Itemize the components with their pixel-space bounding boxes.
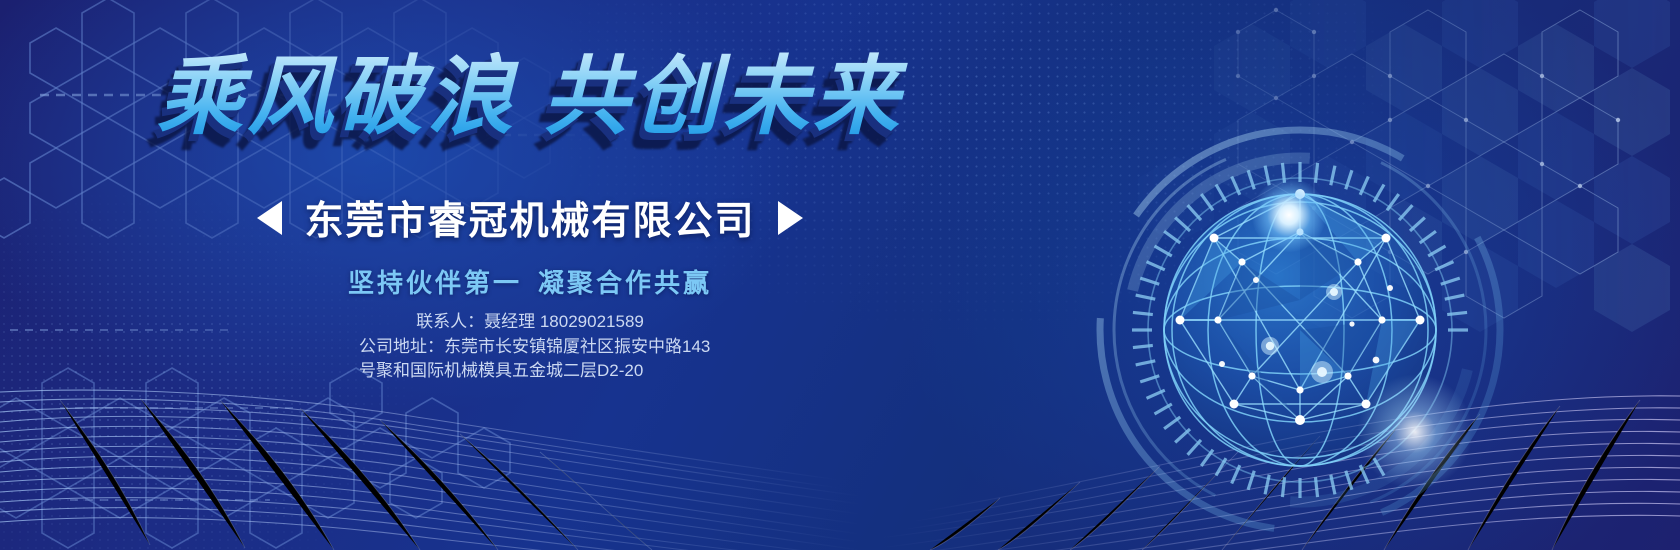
headline-part-2: 共创未来 bbox=[543, 49, 903, 145]
banner-headline: 乘风破浪共创未来 bbox=[0, 52, 1060, 142]
contact-address-line: 公司地址：东莞市长安镇锦厦社区振安中路143号聚和国际机械模具五金城二层D2-2… bbox=[341, 335, 719, 384]
company-name: 东莞市睿冠机械有限公司 bbox=[304, 190, 755, 246]
slogan-part-1: 坚持伙伴第一 bbox=[348, 268, 522, 298]
contact-person-line: 联系人：聂经理 18029021589 bbox=[0, 310, 1060, 335]
slogan-part-2: 凝聚合作共赢 bbox=[538, 268, 712, 298]
left-triangle-icon bbox=[257, 201, 282, 235]
right-triangle-icon bbox=[778, 201, 803, 235]
promo-banner: 乘风破浪共创未来 东莞市睿冠机械有限公司 坚持伙伴第一凝聚合作共赢 联系人：聂经… bbox=[0, 0, 1680, 550]
company-slogan: 坚持伙伴第一凝聚合作共赢 bbox=[0, 263, 1060, 300]
contact-block: 联系人：聂经理 18029021589 公司地址：东莞市长安镇锦厦社区振安中路1… bbox=[0, 310, 1060, 384]
wireframe-globe-graphic bbox=[1090, 120, 1510, 540]
headline-part-1: 乘风破浪 bbox=[157, 49, 517, 145]
company-name-row: 东莞市睿冠机械有限公司 bbox=[0, 190, 1060, 246]
banner-content: 乘风破浪共创未来 东莞市睿冠机械有限公司 坚持伙伴第一凝聚合作共赢 联系人：聂经… bbox=[0, 0, 1060, 550]
